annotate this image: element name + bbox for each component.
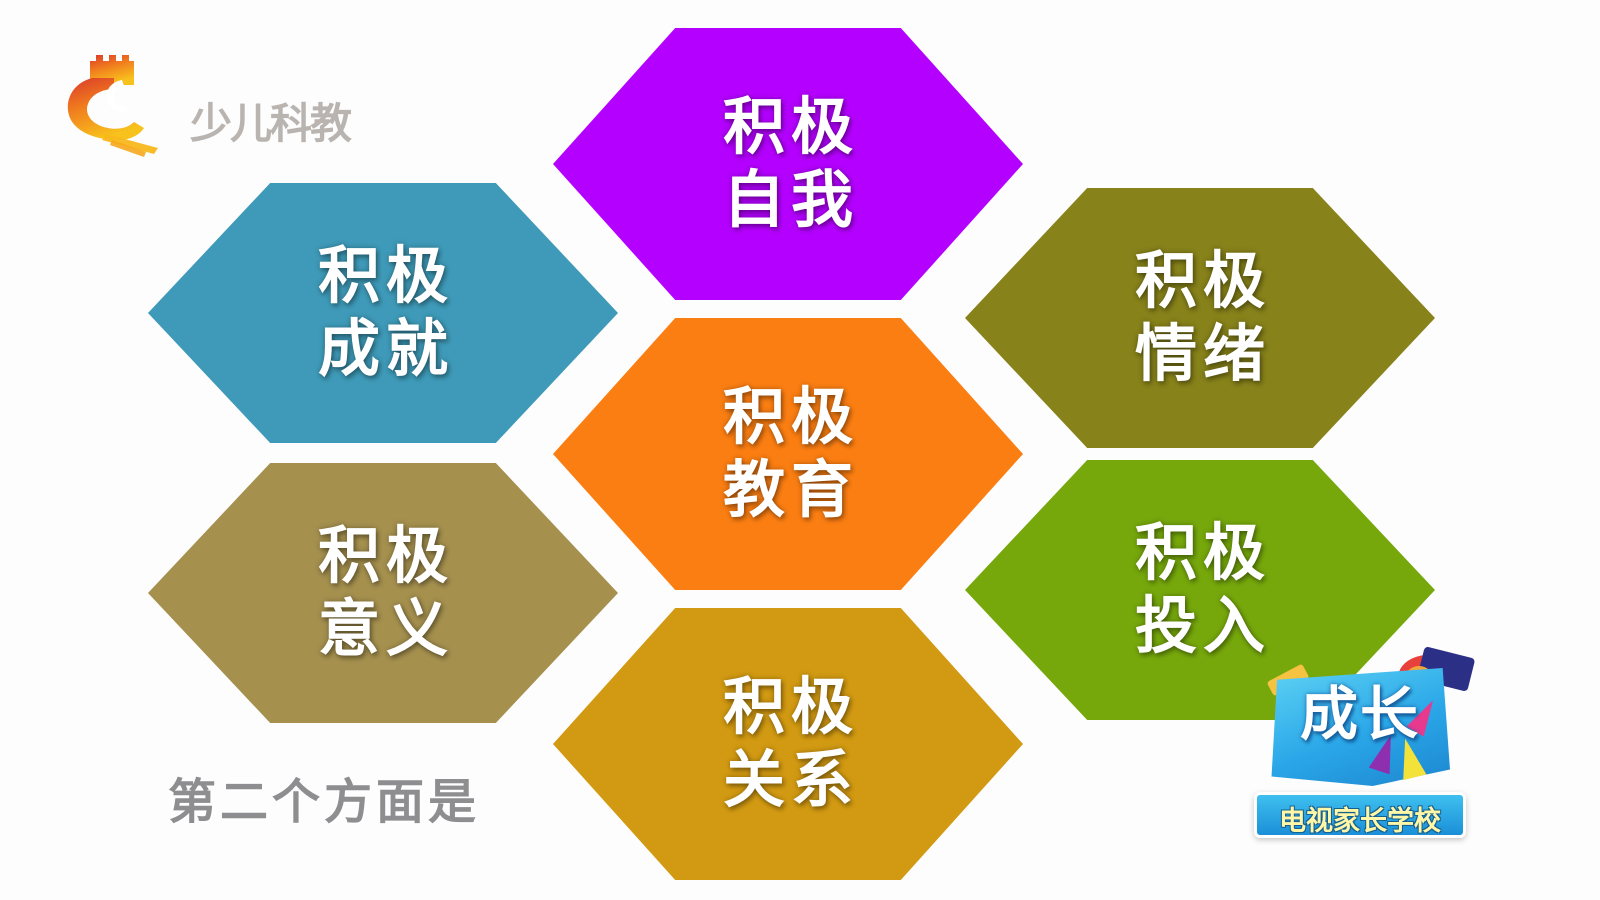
channel-logo-text: 少儿科教 <box>190 90 350 151</box>
hex-label-line2: 关系 <box>717 744 859 817</box>
hex-cell-positive-emotion[interactable]: 积极 情绪 <box>965 188 1435 448</box>
subtitle-caption: 第二个方面是 <box>168 762 480 832</box>
hex-label-line1: 积极 <box>717 91 859 164</box>
hex-cell-positive-education[interactable]: 积极 教育 <box>553 318 1023 590</box>
hex-label-line2: 情绪 <box>1129 318 1271 391</box>
hex-cell-positive-self[interactable]: 积极 自我 <box>553 28 1023 300</box>
hex-label-line2: 成就 <box>312 313 454 386</box>
hex-label-line1: 积极 <box>312 240 454 313</box>
hex-label-line1: 积极 <box>312 520 454 593</box>
hex-cell-positive-achievement[interactable]: 积极 成就 <box>148 183 618 443</box>
hex-label-line1: 积极 <box>1129 245 1271 318</box>
program-logo: 成长 电视家长学校 <box>1248 650 1478 850</box>
channel-logo: 少儿科教 <box>62 48 312 158</box>
hex-cell-positive-meaning[interactable]: 积极 意义 <box>148 463 618 723</box>
hex-label-line1: 积极 <box>717 381 859 454</box>
hex-cell-positive-relationship[interactable]: 积极 关系 <box>553 608 1023 880</box>
program-logo-subtitle: 电视家长学校 <box>1254 799 1466 838</box>
hex-label-line2: 意义 <box>312 593 454 666</box>
hex-label-line2: 自我 <box>717 164 859 237</box>
hex-label-line1: 积极 <box>1129 517 1271 590</box>
hex-label-line2: 教育 <box>717 454 859 527</box>
hex-label-line1: 积极 <box>717 671 859 744</box>
program-logo-title: 成长 <box>1278 686 1442 744</box>
